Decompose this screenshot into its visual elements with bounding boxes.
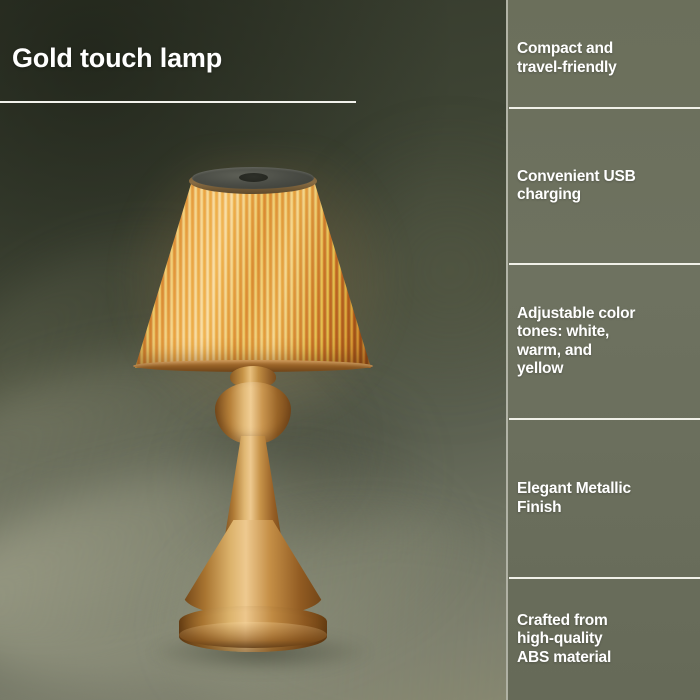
feature-item-usb: Convenient USB charging xyxy=(506,109,700,263)
feature-label: Crafted from high-quality ABS material xyxy=(517,612,611,667)
touch-sensor-icon xyxy=(239,173,268,182)
infographic-canvas: Gold touch lamp Compact and travel-frien… xyxy=(0,0,700,700)
feature-label: Adjustable color tones: white, warm, and… xyxy=(517,305,635,378)
lamp-base-flare xyxy=(183,520,323,616)
feature-label: Compact and travel-friendly xyxy=(517,40,617,77)
feature-item-color-tones: Adjustable color tones: white, warm, and… xyxy=(506,265,700,418)
feature-item-metallic-finish: Elegant Metallic Finish xyxy=(506,420,700,577)
product-photo: Gold touch lamp xyxy=(0,0,506,700)
lamp-neck-bulb xyxy=(215,382,291,444)
feature-panel: Compact and travel-friendly Convenient U… xyxy=(506,0,700,700)
feature-label: Convenient USB charging xyxy=(517,168,636,205)
feature-label: Elegant Metallic Finish xyxy=(517,480,631,517)
feature-item-compact: Compact and travel-friendly xyxy=(506,10,700,107)
title-underline xyxy=(0,101,356,103)
page-title: Gold touch lamp xyxy=(0,44,380,74)
feature-item-abs-material: Crafted from high-quality ABS material xyxy=(506,579,700,700)
lamp-illustration xyxy=(0,0,506,700)
lamp-foot-rim xyxy=(179,622,327,648)
title-block: Gold touch lamp xyxy=(0,44,380,74)
